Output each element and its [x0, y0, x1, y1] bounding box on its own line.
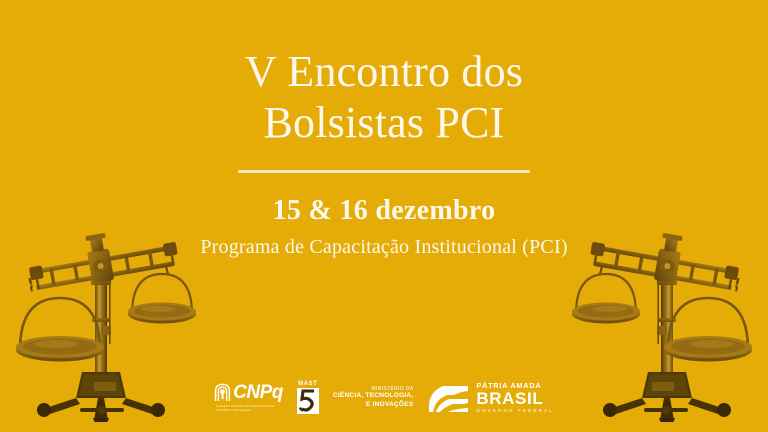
logo-cnpq: CNPq Conselho Nacional de Desenvolviment…: [214, 383, 283, 412]
brasil-line-2: BRASIL: [476, 390, 553, 407]
divider-rule: [238, 170, 530, 173]
cnpq-tagline: Conselho Nacional de Desenvolvimento Cie…: [216, 404, 278, 412]
title-line-2: Bolsistas PCI: [0, 97, 768, 148]
mast-wordmark: MAST: [298, 381, 317, 387]
logo-brasil: PÁTRIA AMADA BRASIL GOVERNO FEDERAL: [427, 382, 553, 414]
cnpq-emblem-icon: [214, 383, 231, 402]
brasil-line-1: PÁTRIA AMADA: [476, 382, 553, 389]
event-date: 15 & 16 dezembro: [0, 195, 768, 227]
mast-emblem-icon: [297, 388, 319, 414]
logo-ministry: MINISTÉRIO DA CIÊNCIA, TECNOLOGIA, E INO…: [333, 386, 414, 409]
logo-mast: MAST: [297, 381, 319, 414]
brasil-flag-emblem-icon: [427, 382, 471, 414]
ministry-line-3: E INOVAÇÕES: [366, 401, 414, 409]
brasil-line-3: GOVERNO FEDERAL: [476, 409, 553, 414]
event-poster: V Encontro dos Bolsistas PCI 15 & 16 dez…: [0, 0, 768, 432]
ministry-line-2: CIÊNCIA, TECNOLOGIA,: [333, 392, 414, 400]
cnpq-wordmark: CNPq: [233, 383, 283, 402]
title-line-1: V Encontro dos: [0, 46, 768, 97]
page-title: V Encontro dos Bolsistas PCI: [0, 0, 768, 148]
programme-name: Programa de Capacitação Institucional (P…: [0, 236, 768, 259]
logo-bar: CNPq Conselho Nacional de Desenvolviment…: [0, 381, 768, 414]
poster-content: V Encontro dos Bolsistas PCI 15 & 16 dez…: [0, 0, 768, 259]
